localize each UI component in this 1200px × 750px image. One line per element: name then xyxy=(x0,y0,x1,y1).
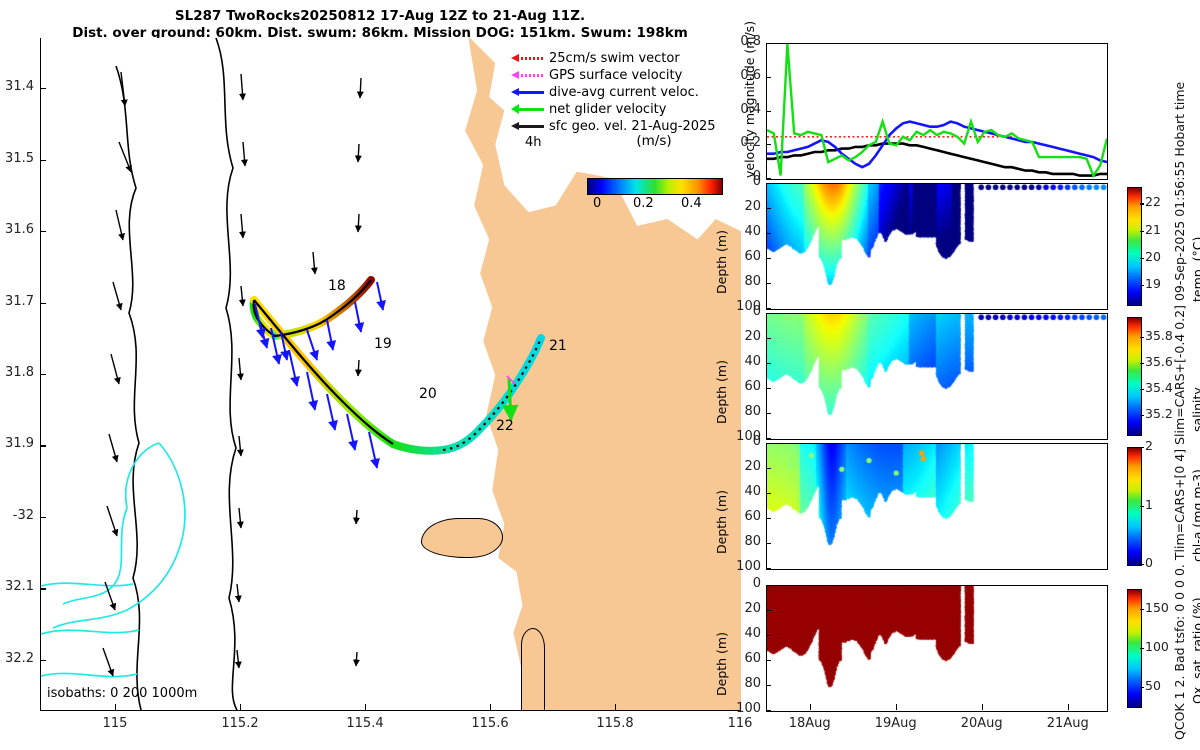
map-legend: 25cm/s swim vector GPS surface velocity … xyxy=(511,50,739,135)
depth-tick xyxy=(766,518,771,519)
oxygen-section-panel[interactable] xyxy=(766,585,1108,712)
salinity-colorbar xyxy=(1127,317,1142,436)
time-tick xyxy=(982,704,983,710)
depth-tick xyxy=(766,183,771,184)
map-colorbar-tick: 0 xyxy=(593,196,601,211)
chlorophyll-a-colorbar-label: chl-a (mg m-3) xyxy=(1190,469,1200,562)
depth-axis-label: Depth (m) xyxy=(714,490,729,554)
day-label: 22 xyxy=(496,418,514,434)
map-y-tick xyxy=(40,517,46,518)
colorbar-tick-label: 35.2 xyxy=(1145,406,1173,421)
depth-tick xyxy=(766,313,771,314)
salinity-colorbar-label: salinity xyxy=(1190,387,1200,432)
chlorophyll-a-section-canvas xyxy=(767,444,1107,569)
depth-tick xyxy=(766,610,771,611)
colorbar-tick xyxy=(1140,648,1144,649)
map-ocean: 18 19 20 21 22 25cm/s swim vector GPS su… xyxy=(41,38,741,710)
map-y-tick-label: 31.4 xyxy=(0,79,34,94)
map-y-tick xyxy=(40,88,46,89)
depth-tick xyxy=(766,308,771,309)
map-colorbar-tick: 0.2 xyxy=(633,196,654,211)
colorbar-tick xyxy=(1140,564,1144,565)
depth-tick-label: 20 xyxy=(722,329,761,344)
velocity-y-tick xyxy=(766,111,771,112)
depth-tick xyxy=(766,208,771,209)
colorbar-tick-label: 2 xyxy=(1145,438,1153,453)
depth-tick-label: 100 xyxy=(722,701,761,716)
depth-tick-label: 0 xyxy=(722,576,761,591)
depth-tick xyxy=(766,585,771,586)
legend-item: dive-avg current veloc. xyxy=(511,84,739,101)
colorbar-tick xyxy=(1140,258,1144,259)
velocity-y-tick-label: 0.4 xyxy=(724,102,761,117)
time-tick xyxy=(1068,704,1069,710)
colorbar-tick xyxy=(1140,203,1144,204)
day-label: 18 xyxy=(328,278,346,294)
map-y-tick xyxy=(40,160,46,161)
map-y-tick-label: 31.8 xyxy=(0,365,34,380)
velocity-series-net-glider-velocity xyxy=(767,44,1107,176)
swim-vector-icon xyxy=(511,53,545,64)
map-colorbar xyxy=(587,178,723,195)
colorbar-tick xyxy=(1140,337,1144,338)
legend-label: dive-avg current veloc. xyxy=(549,85,699,100)
day-label: 21 xyxy=(549,338,567,354)
depth-tick-label: 0 xyxy=(722,434,761,449)
depth-tick-label: 20 xyxy=(722,601,761,616)
net-glider-velocity-icon xyxy=(511,104,545,115)
depth-tick xyxy=(766,685,771,686)
colorbar-tick xyxy=(1140,609,1144,610)
depth-tick xyxy=(766,568,771,569)
legend-item: GPS surface velocity xyxy=(511,67,739,84)
temperature-section-panel[interactable] xyxy=(766,183,1108,310)
legend-label: GPS surface velocity xyxy=(549,68,682,83)
map-y-tick-label: 31.5 xyxy=(0,151,34,166)
depth-tick xyxy=(766,710,771,711)
legend-label: net glider velocity xyxy=(549,102,666,117)
colorbar-tick xyxy=(1140,285,1144,286)
depth-axis-label: Depth (m) xyxy=(714,632,729,696)
temperature-section-canvas xyxy=(767,184,1107,309)
map-y-tick xyxy=(40,374,46,375)
velocity-y-tick-label: 0.8 xyxy=(724,34,761,49)
colorbar-tick-label: 150 xyxy=(1145,600,1169,615)
dive-avg-current-icon xyxy=(511,87,545,98)
depth-tick xyxy=(766,338,771,339)
map-y-tick-label: 31.7 xyxy=(0,294,34,309)
legend-label: 25cm/s swim vector xyxy=(549,51,680,66)
map-y-tick xyxy=(40,445,46,446)
colorbar-tick xyxy=(1140,687,1144,688)
map-x-tick-label: 115.6 xyxy=(468,716,512,731)
map-y-tick xyxy=(40,303,46,304)
colorbar-tick-label: 35.4 xyxy=(1145,380,1173,395)
depth-tick xyxy=(766,258,771,259)
gps-velocity-icon xyxy=(511,70,545,81)
colorbar-tick xyxy=(1140,506,1144,507)
depth-axis-label: Depth (m) xyxy=(714,360,729,424)
depth-tick xyxy=(766,543,771,544)
depth-tick xyxy=(766,443,771,444)
depth-tick-label: 0 xyxy=(722,304,761,319)
depth-tick-label: 20 xyxy=(722,199,761,214)
colorbar-tick xyxy=(1140,363,1144,364)
map-x-tick xyxy=(615,704,616,710)
temperature-colorbar xyxy=(1127,187,1142,306)
colorbar-tick-label: 35.8 xyxy=(1145,328,1173,343)
map-panel[interactable]: 18 19 20 21 22 25cm/s swim vector GPS su… xyxy=(40,38,741,711)
time-tick-label: 18Aug xyxy=(778,716,842,731)
page-title-line1: SL287 TwoRocks20250812 17-Aug 12Z to 21-… xyxy=(0,8,760,24)
chlorophyll-section-panel[interactable] xyxy=(766,443,1108,570)
depth-tick xyxy=(766,493,771,494)
depth-tick xyxy=(766,468,771,469)
scale-bar-label: 4h xyxy=(525,135,542,150)
map-y-tick xyxy=(40,231,46,232)
legend-item: 25cm/s swim vector xyxy=(511,50,739,67)
map-y-tick-label: 31.9 xyxy=(0,436,34,451)
depth-tick xyxy=(766,388,771,389)
depth-tick-label: 20 xyxy=(722,459,761,474)
colorbar-tick xyxy=(1140,389,1144,390)
day-label: 20 xyxy=(419,386,437,402)
colorbar-tick-label: 19 xyxy=(1145,276,1161,291)
depth-tick xyxy=(766,635,771,636)
colorbar-tick-label: 50 xyxy=(1145,678,1161,693)
colorbar-tick-label: 21 xyxy=(1145,222,1161,237)
velocity-y-tick-label: 0.2 xyxy=(724,135,761,150)
depth-tick xyxy=(766,413,771,414)
map-y-tick-label: 32.2 xyxy=(0,651,34,666)
map-colorbar-title: (m/s) xyxy=(587,133,721,149)
oxygen-saturation-colorbar-label: Ox. sat. ratio (%) xyxy=(1190,597,1200,704)
depth-tick-label: 100 xyxy=(722,559,761,574)
depth-tick-label: 0 xyxy=(722,174,761,189)
colorbar-tick xyxy=(1140,231,1144,232)
colorbar-tick xyxy=(1140,415,1144,416)
legend-label: sfc geo. vel. 21-Aug-2025 xyxy=(549,119,716,134)
colorbar-tick-label: 20 xyxy=(1145,249,1161,264)
map-x-tick xyxy=(365,704,366,710)
time-tick xyxy=(810,704,811,710)
temperature-colorbar-label: temp. (°C) xyxy=(1190,237,1200,302)
map-x-tick xyxy=(240,704,241,710)
velocity-y-tick xyxy=(766,144,771,145)
depth-tick xyxy=(766,438,771,439)
colorbar-tick-label: 35.6 xyxy=(1145,354,1173,369)
depth-tick xyxy=(766,363,771,364)
colorbar-tick-label: 1 xyxy=(1145,497,1153,512)
map-x-tick-label: 116 xyxy=(718,716,762,731)
depth-tick xyxy=(766,233,771,234)
footer-annotation: QCOK 1 2. Bad tsfo: 0 0 0 0. Tlim=CARS+[… xyxy=(1172,82,1187,740)
time-tick xyxy=(896,704,897,710)
map-y-tick xyxy=(40,660,46,661)
map-y-tick xyxy=(40,588,46,589)
map-y-tick-label: 31.6 xyxy=(0,222,34,237)
depth-axis-label: Depth (m) xyxy=(714,230,729,294)
colorbar-tick-label: 22 xyxy=(1145,194,1161,209)
velocity-series-dive-avg-current-veloc- xyxy=(767,122,1107,168)
legend-item: net glider velocity xyxy=(511,101,739,118)
colorbar-tick-label: 100 xyxy=(1145,639,1169,654)
map-x-tick-label: 115.8 xyxy=(593,716,637,731)
map-colorbar-tick: 0.4 xyxy=(681,196,702,211)
map-x-tick xyxy=(490,704,491,710)
velocity-y-tick xyxy=(766,77,771,78)
salinity-section-panel[interactable] xyxy=(766,313,1108,440)
colorbar-tick xyxy=(1140,447,1144,448)
time-tick-label: 20Aug xyxy=(950,716,1014,731)
map-x-tick-label: 115.4 xyxy=(343,716,387,731)
depth-tick xyxy=(766,660,771,661)
colorbar-tick-label: 0 xyxy=(1145,555,1153,570)
depth-tick xyxy=(766,283,771,284)
map-x-tick-label: 115 xyxy=(93,716,137,731)
salinity-section-canvas xyxy=(767,314,1107,439)
day-label: 19 xyxy=(374,336,392,352)
velocity-timeseries-panel[interactable] xyxy=(766,43,1108,180)
velocity-y-tick xyxy=(766,43,771,44)
isobath-legend-note: isobaths: 0 200 1000m xyxy=(47,686,197,701)
time-tick-label: 19Aug xyxy=(864,716,928,731)
velocity-y-tick-label: 0.6 xyxy=(724,68,761,83)
map-x-tick xyxy=(115,704,116,710)
map-y-tick-label: -32 xyxy=(0,508,34,523)
velocity-y-tick xyxy=(766,178,771,179)
sfc-geo-velocity-icon xyxy=(511,121,545,132)
map-y-tick-label: 32.1 xyxy=(0,579,34,594)
map-x-tick-label: 115.2 xyxy=(218,716,262,731)
time-tick-label: 21Aug xyxy=(1036,716,1100,731)
oxygen-saturation-section-canvas xyxy=(767,586,1107,711)
